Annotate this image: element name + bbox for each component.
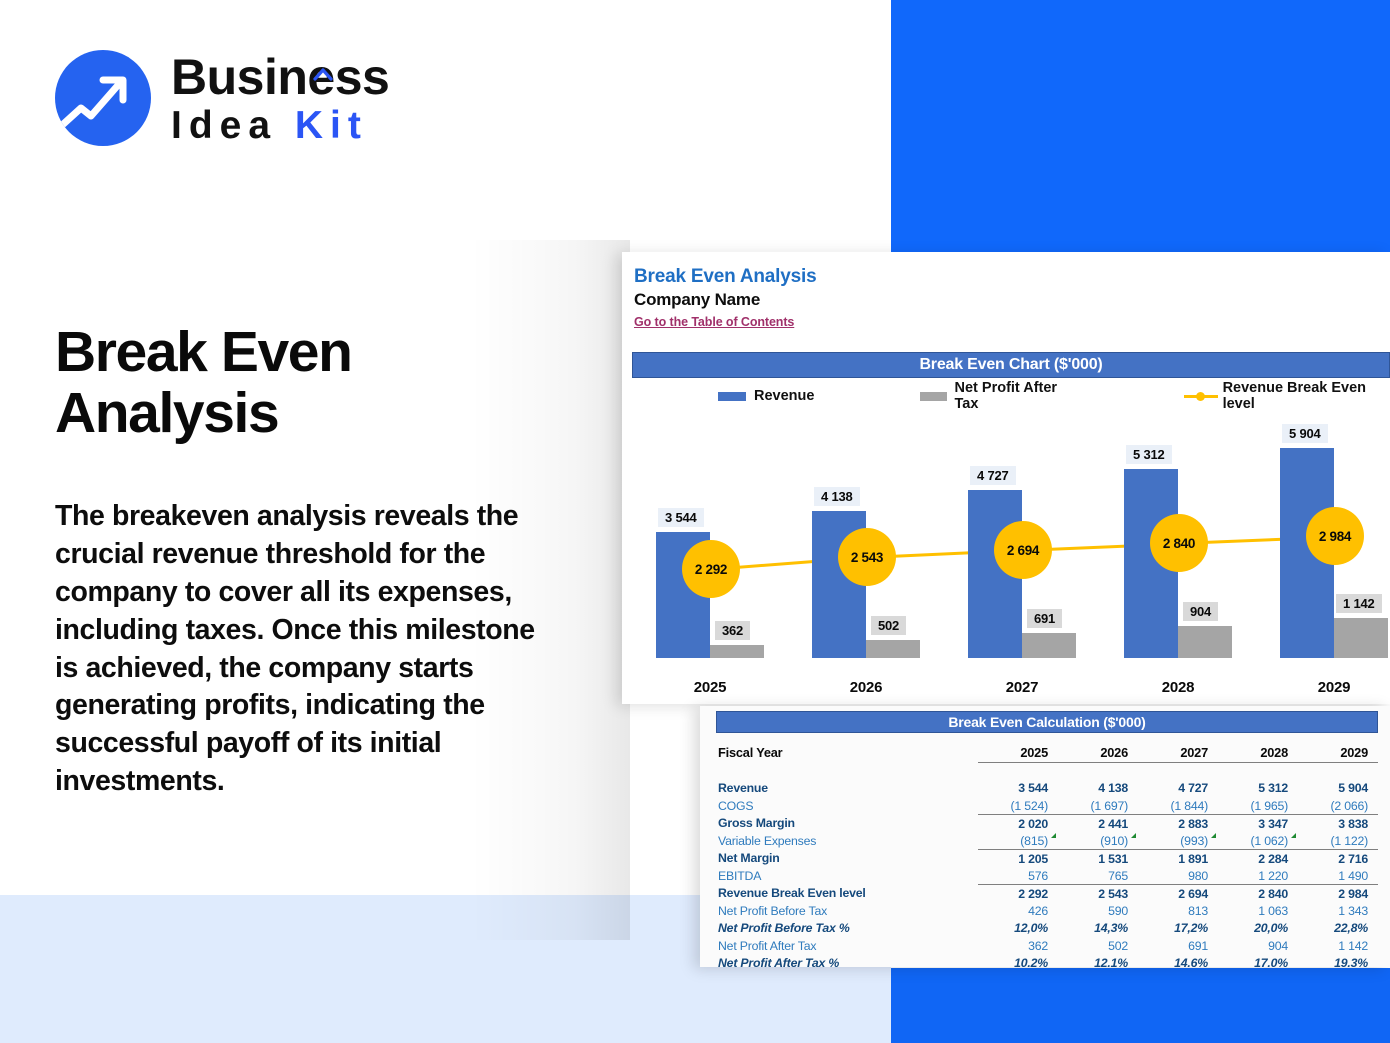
x-axis-tick-2027: 2027 [968, 679, 1076, 696]
break-even-calculation-table: Fiscal Year 2025 2026 2027 2028 2029 Rev… [716, 738, 1378, 967]
column-header-2029: 2029 [1298, 738, 1378, 762]
sheet-title: Break Even Analysis [634, 266, 816, 288]
bar-net-profit-after-tax[interactable] [1022, 633, 1076, 658]
cell-2029: 1 343 [1298, 902, 1378, 920]
cell-2025: 1 205 [978, 850, 1058, 868]
row-label: Variable Expenses [716, 832, 978, 850]
cell-2029: 2 984 [1298, 885, 1378, 903]
brand-name-top-text: Business [171, 49, 389, 105]
cell-2025: 3 544 [978, 780, 1058, 798]
x-axis-tick-2025: 2025 [656, 679, 764, 696]
cell-2028: 1 063 [1218, 902, 1298, 920]
cell-2025: 362 [978, 937, 1058, 955]
cell-2027: (1 844) [1138, 797, 1218, 815]
cell-2026: 590 [1058, 902, 1138, 920]
cell-2029: 22,8% [1298, 920, 1378, 938]
bar-label-revenue: 5 904 [1282, 424, 1328, 443]
table-row[interactable]: EBITDA 576 765 980 1 220 1 490 [716, 867, 1378, 885]
bar-label-revenue: 4 727 [970, 466, 1016, 485]
cell-2025: 576 [978, 867, 1058, 885]
cell-2029: 1 490 [1298, 867, 1378, 885]
break-even-marker-2026[interactable]: 2 543 [838, 528, 896, 586]
row-label: Net Profit Before Tax [716, 902, 978, 920]
bar-label-net-profit-after-tax: 904 [1183, 602, 1218, 621]
legend-label-revenue: Revenue [754, 388, 814, 404]
bar-label-revenue: 4 138 [814, 487, 860, 506]
legend-item-revenue[interactable]: Revenue [718, 388, 814, 404]
cell-2029: 1 142 [1298, 937, 1378, 955]
cell-2027: 691 [1138, 937, 1218, 955]
chart-title-bar: Break Even Chart ($'000) [632, 352, 1390, 378]
cell-2028: 904 [1218, 937, 1298, 955]
cell-2028: 20,0% [1218, 920, 1298, 938]
break-even-marker-2027[interactable]: 2 694 [994, 521, 1052, 579]
cell-2027: 17,2% [1138, 920, 1218, 938]
growth-arrow-icon [55, 50, 151, 146]
break-even-marker-2028[interactable]: 2 840 [1150, 514, 1208, 572]
cell-2026: 2 543 [1058, 885, 1138, 903]
row-label: Net Profit After Tax [716, 937, 978, 955]
table-row[interactable]: Net Profit After Tax 362 502 691 904 1 1… [716, 937, 1378, 955]
bar-label-net-profit-after-tax: 691 [1027, 609, 1062, 628]
cell-2027: 2 883 [1138, 815, 1218, 833]
bar-label-revenue: 5 312 [1126, 445, 1172, 464]
cell-2027: 1 891 [1138, 850, 1218, 868]
legend-label-net-profit-after-tax: Net Profit After Tax [955, 380, 1076, 412]
cell-2027: 14,6% [1138, 955, 1218, 968]
cell-2026: (910) [1058, 832, 1138, 850]
bar-net-profit-after-tax[interactable] [1178, 626, 1232, 658]
cell-2026: 1 531 [1058, 850, 1138, 868]
cell-2028: 2 284 [1218, 850, 1298, 868]
table-title-bar: Break Even Calculation ($'000) [716, 711, 1378, 733]
cell-2025: 2 292 [978, 885, 1058, 903]
row-label: COGS [716, 797, 978, 815]
cell-2025: 12,0% [978, 920, 1058, 938]
cell-2025: 2 020 [978, 815, 1058, 833]
chart-plot-area: 3 544 362 2025 2 292 4 138 502 2026 2 54… [622, 420, 1390, 704]
cell-2028: 3 347 [1218, 815, 1298, 833]
table-spacer-row [716, 762, 1378, 780]
bar-net-profit-after-tax[interactable] [866, 640, 920, 658]
cell-2029: 3 838 [1298, 815, 1378, 833]
column-header-fiscal-year: Fiscal Year [716, 738, 978, 762]
table-row[interactable]: Net Profit After Tax % 10,2% 12,1% 14,6%… [716, 955, 1378, 968]
table-row[interactable]: Variable Expenses (815) (910) (993) (1 0… [716, 832, 1378, 850]
cell-2026: 502 [1058, 937, 1138, 955]
break-even-marker-2029[interactable]: 2 984 [1306, 507, 1364, 565]
row-label: Net Margin [716, 850, 978, 868]
legend-marker-line-icon [1184, 390, 1216, 402]
cell-2026: 765 [1058, 867, 1138, 885]
column-header-2025: 2025 [978, 738, 1058, 762]
break-even-marker-2025[interactable]: 2 292 [682, 540, 740, 598]
cell-2027: 980 [1138, 867, 1218, 885]
background-block-top-right [891, 0, 1390, 253]
table-of-contents-link[interactable]: Go to the Table of Contents [634, 315, 794, 329]
table-header-row: Fiscal Year 2025 2026 2027 2028 2029 [716, 738, 1378, 762]
page-title: Break Even Analysis [55, 322, 555, 444]
row-label: Net Profit Before Tax % [716, 920, 978, 938]
x-axis-tick-2029: 2029 [1280, 679, 1388, 696]
cell-2028: 2 840 [1218, 885, 1298, 903]
table-row[interactable]: Revenue 3 544 4 138 4 727 5 312 5 904 [716, 780, 1378, 798]
cell-2027: 813 [1138, 902, 1218, 920]
row-label: Revenue Break Even level [716, 885, 978, 903]
cell-2029: 19,3% [1298, 955, 1378, 968]
table-row[interactable]: Gross Margin 2 020 2 441 2 883 3 347 3 8… [716, 815, 1378, 833]
cell-2029: (2 066) [1298, 797, 1378, 815]
cell-2029: (1 122) [1298, 832, 1378, 850]
cell-2025: 10,2% [978, 955, 1058, 968]
x-axis-tick-2028: 2028 [1124, 679, 1232, 696]
chart-legend: Revenue Net Profit After Tax Revenue Bre… [632, 384, 1390, 408]
column-header-2027: 2027 [1138, 738, 1218, 762]
row-label: EBITDA [716, 867, 978, 885]
cell-2028: (1 062) [1218, 832, 1298, 850]
bar-label-net-profit-after-tax: 502 [871, 616, 906, 635]
cell-2027: 2 694 [1138, 885, 1218, 903]
cell-2027: (993) [1138, 832, 1218, 850]
column-header-2026: 2026 [1058, 738, 1138, 762]
x-axis-tick-2026: 2026 [812, 679, 920, 696]
brand-name-kit: Kit [295, 104, 368, 147]
legend-item-net-profit-after-tax[interactable]: Net Profit After Tax [920, 380, 1075, 412]
column-header-2028: 2028 [1218, 738, 1298, 762]
legend-swatch-net-profit-icon [920, 392, 946, 401]
row-label: Revenue [716, 780, 978, 798]
table-row[interactable]: Revenue Break Even level 2 292 2 543 2 6… [716, 885, 1378, 903]
chart-panel: Break Even Analysis Company Name Go to t… [622, 252, 1390, 704]
cell-2026: 4 138 [1058, 780, 1138, 798]
bar-label-net-profit-after-tax: 362 [715, 621, 750, 640]
company-name: Company Name [634, 290, 760, 310]
cell-2026: 12,1% [1058, 955, 1138, 968]
brand-logo: Business Idea Kit [55, 50, 389, 146]
cell-2029: 2 716 [1298, 850, 1378, 868]
table-row[interactable]: Net Profit Before Tax % 12,0% 14,3% 17,2… [716, 920, 1378, 938]
legend-label-break-even-level: Revenue Break Even level [1223, 380, 1390, 412]
bar-net-profit-after-tax[interactable] [1334, 618, 1388, 658]
cell-2028: 17,0% [1218, 955, 1298, 968]
table-row[interactable]: Net Profit Before Tax 426 590 813 1 063 … [716, 902, 1378, 920]
row-label: Net Profit After Tax % [716, 955, 978, 968]
cell-2029: 5 904 [1298, 780, 1378, 798]
cell-2025: (1 524) [978, 797, 1058, 815]
row-label: Gross Margin [716, 815, 978, 833]
legend-item-break-even-level[interactable]: Revenue Break Even level [1184, 380, 1390, 412]
table-row[interactable]: COGS (1 524) (1 697) (1 844) (1 965) (2 … [716, 797, 1378, 815]
cell-2028: 1 220 [1218, 867, 1298, 885]
bar-label-net-profit-after-tax: 1 142 [1336, 594, 1382, 613]
cell-2026: (1 697) [1058, 797, 1138, 815]
brand-name-idea: Idea [171, 104, 277, 147]
cell-2028: (1 965) [1218, 797, 1298, 815]
cell-2025: (815) [978, 832, 1058, 850]
bar-net-profit-after-tax[interactable] [710, 645, 764, 658]
cell-2026: 14,3% [1058, 920, 1138, 938]
brand-name-bottom: Idea Kit [171, 106, 389, 145]
cell-2025: 426 [978, 902, 1058, 920]
brand-name-top: Business [171, 52, 389, 102]
bar-label-revenue: 3 544 [658, 508, 704, 527]
legend-swatch-revenue-icon [718, 392, 746, 401]
page-description: The breakeven analysis reveals the cruci… [55, 498, 547, 801]
cell-2026: 2 441 [1058, 815, 1138, 833]
cell-2027: 4 727 [1138, 780, 1218, 798]
table-row[interactable]: Net Margin 1 205 1 531 1 891 2 284 2 716 [716, 850, 1378, 868]
cell-2028: 5 312 [1218, 780, 1298, 798]
caret-accent-icon [313, 39, 333, 53]
calculation-table-panel: Break Even Calculation ($'000) Fiscal Ye… [700, 706, 1390, 967]
background-block-bottom-right [891, 968, 1390, 1043]
